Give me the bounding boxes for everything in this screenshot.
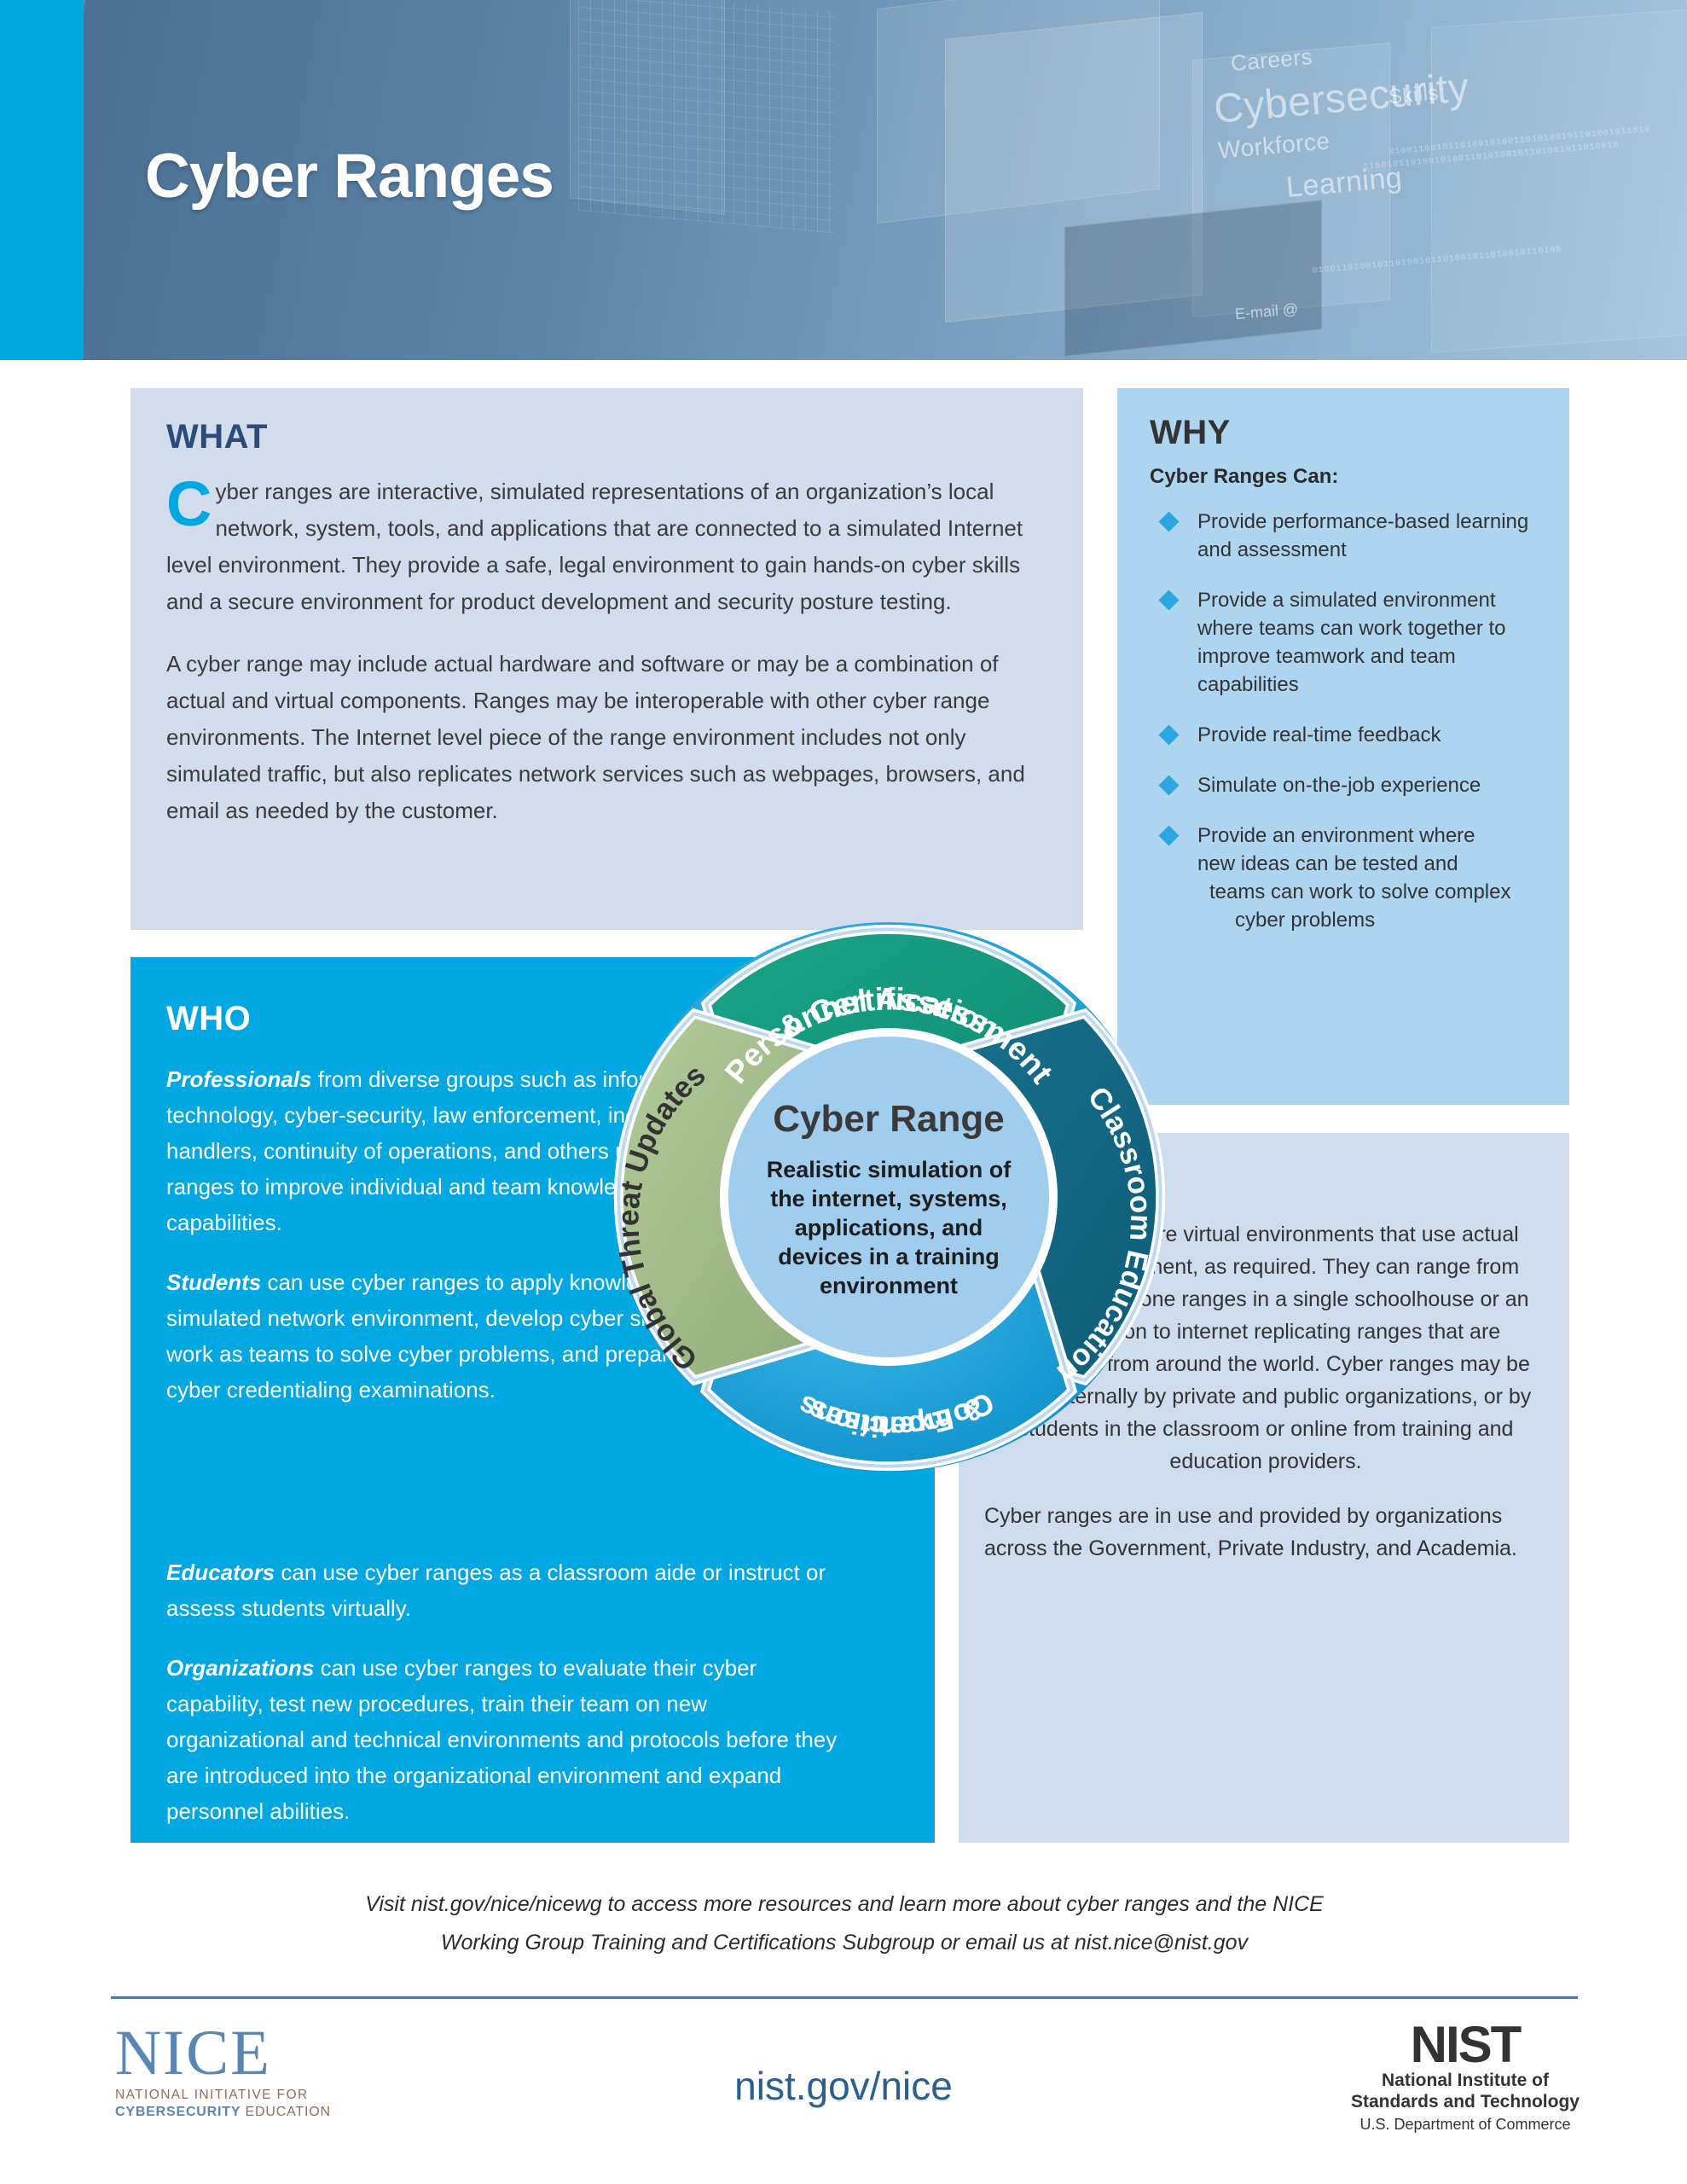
diagram-center-line4: devices in a training: [778, 1244, 1000, 1269]
who-item-educators: Educators can use cyber ranges as a clas…: [166, 1554, 849, 1626]
who-lead-educators: Educators: [166, 1560, 275, 1585]
who-lead-organizations: Organizations: [166, 1655, 314, 1681]
what-body: Cyber ranges are interactive, simulated …: [166, 473, 1058, 855]
what-paragraph-1-text: yber ranges are interactive, simulated r…: [166, 479, 1023, 614]
who-heading: WHO: [166, 1000, 251, 1038]
diamond-bullet-icon: [1158, 511, 1179, 531]
why-bullet-text-line3: teams can work to solve complex: [1197, 878, 1551, 906]
footer-note-line2: Working Group Training and Certification…: [222, 1924, 1467, 1962]
who-body-lower: Educators can use cyber ranges as a clas…: [166, 1554, 849, 1853]
why-bullet-item: Provide real-time feedback: [1150, 721, 1551, 749]
decorative-screen: [570, 0, 725, 215]
what-heading: WHAT: [166, 418, 268, 456]
why-bullet-text: Simulate on-the-job experience: [1197, 774, 1481, 797]
photo-word-skills: Skills: [1388, 81, 1440, 109]
diagram-center-title: Cyber Range: [773, 1098, 1004, 1140]
who-lead-professionals: Professionals: [166, 1066, 312, 1092]
who-lead-students: Students: [166, 1269, 261, 1295]
why-bullet-item: Provide a simulated environment where te…: [1150, 586, 1551, 699]
what-paragraph-1: Cyber ranges are interactive, simulated …: [166, 473, 1058, 620]
page-title: Cyber Ranges: [145, 141, 554, 212]
nist-logo: NIST National Institute of Standards and…: [1346, 2020, 1585, 2135]
footer-note: Visit nist.gov/nice/nicewg to access mor…: [222, 1885, 1467, 1962]
footer-note-line1: Visit nist.gov/nice/nicewg to access mor…: [222, 1885, 1467, 1924]
what-panel: WHAT Cyber ranges are interactive, simul…: [130, 388, 1083, 930]
why-lead-text: Cyber Ranges Can:: [1150, 465, 1338, 489]
why-bullet-list: Provide performance-based learning and a…: [1150, 508, 1551, 956]
nist-logo-line-1: National Institute of: [1346, 2070, 1585, 2091]
why-bullet-text-line2: new ideas can be tested and: [1197, 850, 1551, 878]
why-panel: WHY Cyber Ranges Can: Provide performanc…: [1117, 388, 1569, 1105]
why-bullet-text: Provide performance-based learning and a…: [1197, 510, 1528, 561]
why-bullet-text-line4: cyber problems: [1197, 906, 1551, 934]
why-bullet-text: Provide real-time feedback: [1197, 723, 1441, 746]
why-bullet-item: Simulate on-the-job experience: [1150, 771, 1551, 799]
diagram-center-line3: applications, and: [795, 1215, 983, 1240]
why-bullet-item: Provide an environment where new ideas c…: [1150, 822, 1551, 934]
why-heading: WHY: [1150, 414, 1231, 452]
why-bullet-text: Provide a simulated environment where te…: [1197, 589, 1506, 696]
diamond-bullet-icon: [1158, 825, 1179, 845]
header-accent-stripe: [0, 0, 84, 360]
diamond-bullet-icon: [1158, 724, 1179, 745]
diagram-center-line5: environment: [820, 1273, 958, 1298]
who-item-organizations: Organizations can use cyber ranges to ev…: [166, 1650, 849, 1829]
diamond-bullet-icon: [1158, 775, 1179, 795]
why-bullet-text-line1: Provide an environment where: [1197, 824, 1475, 847]
diagram-center-line1: Realistic simulation of: [767, 1157, 1012, 1182]
drop-cap: C: [166, 475, 215, 531]
diamond-bullet-icon: [1158, 590, 1179, 610]
why-bullet-item: Provide performance-based learning and a…: [1150, 508, 1551, 564]
nist-logo-line-3: U.S. Department of Commerce: [1346, 2114, 1585, 2135]
cyber-range-cycle-diagram: Personnel Assessment & Certification Cla…: [594, 903, 1183, 1491]
what-paragraph-2: A cyber range may include actual hardwar…: [166, 646, 1058, 829]
where-paragraph-2: Cyber ranges are in use and provided by …: [984, 1500, 1547, 1565]
decorative-screen: [1431, 7, 1687, 353]
nist-logo-line-2: Standards and Technology: [1346, 2091, 1585, 2112]
diagram-center-line2: the internet, systems,: [770, 1186, 1007, 1211]
decorative-screen: [1064, 200, 1322, 357]
footer-divider: [111, 1996, 1578, 1999]
header-banner: Careers Cybersecurity Skills Workforce L…: [0, 0, 1687, 360]
nist-logo-wordmark: NIST: [1346, 2020, 1585, 2070]
